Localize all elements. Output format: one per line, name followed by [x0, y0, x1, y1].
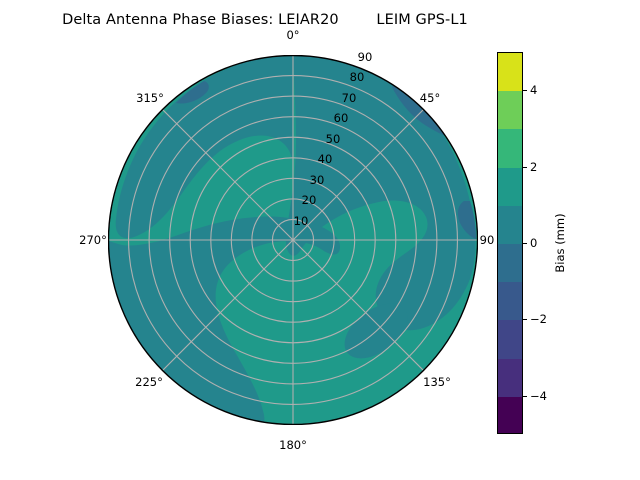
colorbar-tick-label-0: 0 [530, 236, 537, 250]
colorbar-band-9 [498, 53, 522, 91]
colorbar-tick-label-4: 4 [530, 83, 537, 97]
colorbar[interactable]: 4 2 0 −2 −4 [497, 52, 523, 434]
colorbar-band-8 [498, 91, 522, 129]
angular-gridlines [108, 55, 478, 425]
page-title: Delta Antenna Phase Biases: LEIAR20 LEIM… [0, 12, 530, 28]
angular-tick-270: 270° [79, 233, 107, 247]
colorbar-band-2 [498, 320, 522, 358]
colorbar-tick-mark-2 [523, 167, 527, 168]
colorbar-tick-mark-4 [523, 90, 527, 91]
colorbar-band-7 [498, 129, 522, 167]
radial-tick-50: 50 [326, 132, 341, 146]
colorbar-band-6 [498, 168, 522, 206]
angular-tick-0: 0° [286, 28, 299, 42]
radial-tick-20: 20 [302, 193, 317, 207]
radial-tick-30: 30 [310, 173, 325, 187]
angular-tick-90: 90 [480, 233, 495, 247]
angular-tick-315: 315° [136, 91, 164, 105]
angular-tick-225: 225° [135, 375, 163, 389]
radial-tick-10: 10 [294, 214, 309, 228]
figure-canvas: Delta Antenna Phase Biases: LEIAR20 LEIM… [0, 0, 640, 480]
colorbar-tick-mark-m4 [523, 396, 527, 397]
colorbar-gradient [497, 52, 523, 434]
polar-skyplot-axes[interactable]: 0° 45° 90 135° 180° 225° 270° 315° 10 20… [108, 55, 478, 425]
colorbar-band-5 [498, 206, 522, 244]
radial-tick-70: 70 [342, 91, 357, 105]
colorbar-band-0 [498, 397, 522, 434]
colorbar-tick-label-m4: −4 [530, 389, 547, 403]
colorbar-tick-mark-m2 [523, 319, 527, 320]
polar-plot-svg [108, 55, 478, 425]
angular-tick-135: 135° [423, 375, 451, 389]
colorbar-tick-label-m2: −2 [530, 312, 547, 326]
colorbar-tick-label-2: 2 [530, 160, 537, 174]
colorbar-tick-mark-0 [523, 243, 527, 244]
radial-tick-60: 60 [334, 111, 349, 125]
radial-tick-90: 90 [358, 50, 373, 64]
colorbar-band-3 [498, 282, 522, 320]
angular-tick-180: 180° [279, 438, 307, 452]
colorbar-band-4 [498, 244, 522, 282]
radial-tick-40: 40 [318, 152, 333, 166]
colorbar-band-1 [498, 359, 522, 397]
angular-tick-45: 45° [420, 91, 440, 105]
radial-tick-80: 80 [350, 70, 365, 84]
colorbar-axis-label: Bias (mm) [553, 213, 567, 272]
